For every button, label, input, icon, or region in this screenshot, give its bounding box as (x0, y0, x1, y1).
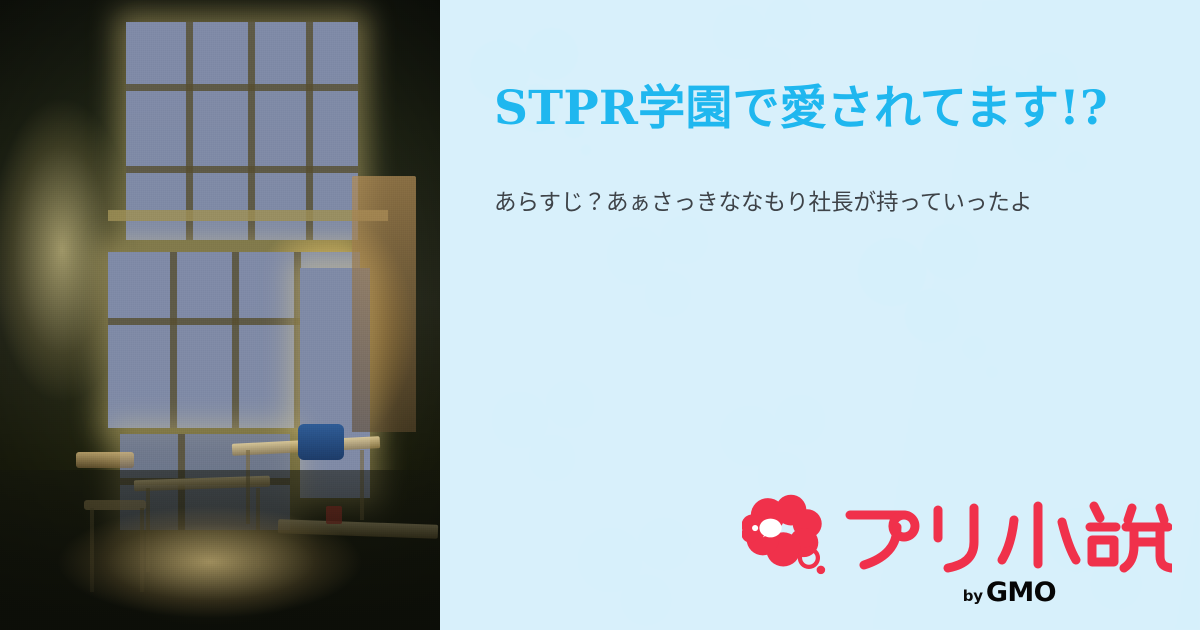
brand-logo-row (742, 493, 1172, 575)
brand-wordmark (842, 494, 1172, 574)
text-content: STPR学園で愛されてます!? あらすじ？あぁさっきななもり社長が持っていったよ (440, 0, 1200, 222)
brand-by-company: GMO (986, 577, 1056, 608)
info-panel: STPR学園で愛されてます!? あらすじ？あぁさっきななもり社長が持っていったよ (440, 0, 1200, 630)
thought-bubble-icon (742, 493, 828, 575)
novel-title: STPR学園で愛されてます!? (494, 78, 1144, 139)
paint-texture (0, 0, 440, 630)
cover-image[interactable] (0, 0, 440, 630)
brand-by-prefix: by (963, 587, 983, 605)
novel-share-card: STPR学園で愛されてます!? あらすじ？あぁさっきななもり社長が持っていったよ (0, 0, 1200, 630)
cover-artwork (0, 0, 440, 630)
brand-logo[interactable]: by GMO (742, 493, 1172, 608)
brand-by-gmo: by GMO (963, 577, 1056, 608)
novel-summary: あらすじ？あぁさっきななもり社長が持っていったよ (494, 186, 1134, 222)
